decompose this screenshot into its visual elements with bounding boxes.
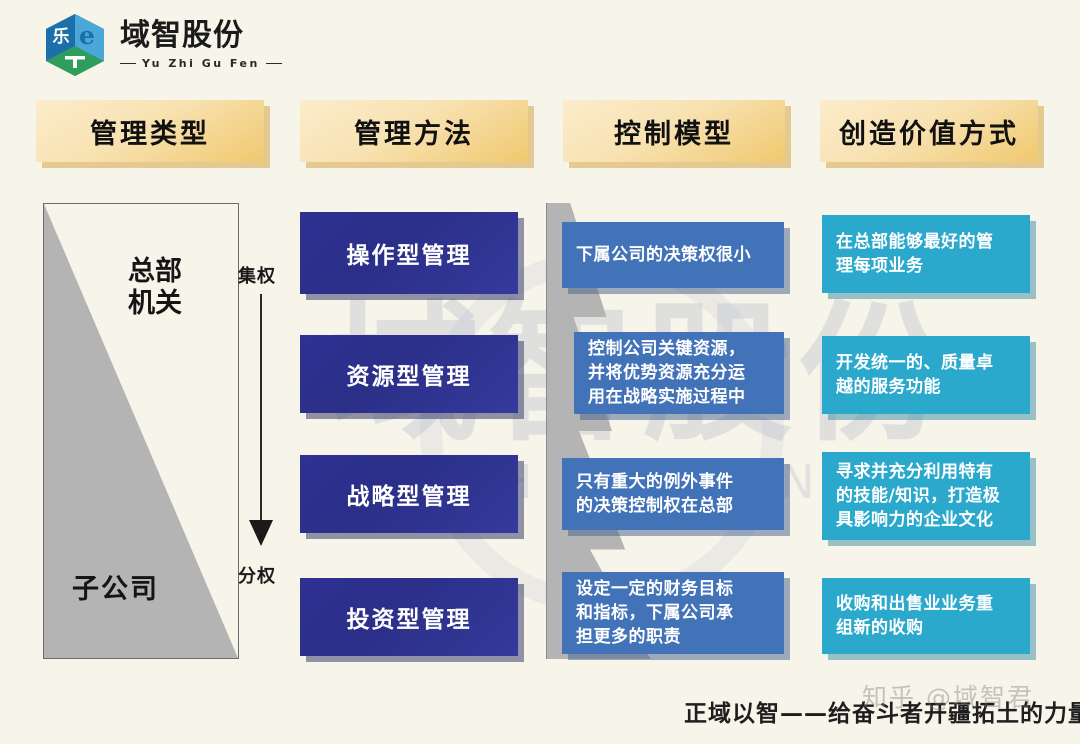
label-headquarters: 总部 机关 (128, 256, 182, 320)
control-card-3[interactable]: 只有重大的例外事件 的决策控制权在总部 (562, 458, 784, 530)
brand-name: 域智股份 (120, 21, 282, 51)
value-card-4-text: 收购和出售业业务重 组新的收购 (836, 592, 994, 640)
control-card-1[interactable]: 下属公司的决策权很小 (562, 222, 784, 288)
down-arrow-icon (249, 520, 273, 546)
headquarters-subsidiary-diagram: 总部 机关 子公司 (43, 203, 239, 659)
column-header-value-creation: 创造价值方式 (820, 100, 1038, 162)
label-centralization: 集权 (238, 262, 276, 288)
value-card-1-text: 在总部能够最好的管 理每项业务 (836, 230, 994, 278)
brand-header: 乐 e 域智股份 Yu Zhi Gu Fen (42, 12, 282, 78)
value-card-2[interactable]: 开发统一的、质量卓 越的服务功能 (822, 336, 1030, 414)
method-card-2[interactable]: 资源型管理 (300, 335, 518, 413)
value-card-3-text: 寻求并充分利用特有 的技能/知识，打造极 具影响力的企业文化 (836, 460, 1000, 532)
label-subsidiary: 子公司 (72, 574, 159, 606)
brand-text-block: 域智股份 Yu Zhi Gu Fen (120, 21, 282, 69)
value-card-4[interactable]: 收购和出售业业务重 组新的收购 (822, 578, 1030, 654)
control-card-3-text: 只有重大的例外事件 的决策控制权在总部 (576, 470, 734, 518)
control-card-4-text: 设定一定的财务目标 和指标，下属公司承 担更多的职责 (576, 577, 734, 649)
value-card-2-text: 开发统一的、质量卓 越的服务功能 (836, 351, 994, 399)
control-card-1-text: 下属公司的决策权很小 (576, 243, 751, 267)
value-card-1[interactable]: 在总部能够最好的管 理每项业务 (822, 215, 1030, 293)
value-card-3[interactable]: 寻求并充分利用特有 的技能/知识，打造极 具影响力的企业文化 (822, 452, 1030, 540)
svg-text:乐: 乐 (53, 27, 70, 47)
column-header-management-method: 管理方法 (300, 100, 528, 162)
slide-canvas: 域智股份 YU ZHI GU FEN 乐 e 域智股份 Yu Zhi Gu Fe… (0, 0, 1080, 744)
column-header-control-model: 控制模型 (563, 100, 785, 162)
brand-pinyin: Yu Zhi Gu Fen (120, 58, 282, 69)
centralization-axis: 集权 分权 (238, 262, 294, 592)
method-card-1[interactable]: 操作型管理 (300, 212, 518, 294)
label-decentralization: 分权 (238, 562, 276, 588)
axis-line (260, 294, 262, 539)
zhihu-watermark: 知乎 @域智君 (862, 678, 1034, 714)
control-card-2[interactable]: 控制公司关键资源， 并将优势资源充分运 用在战略实施过程中 (574, 332, 784, 414)
company-logo-icon: 乐 e (42, 12, 108, 78)
control-card-4[interactable]: 设定一定的财务目标 和指标，下属公司承 担更多的职责 (562, 572, 784, 654)
method-card-3[interactable]: 战略型管理 (300, 455, 518, 533)
method-card-4[interactable]: 投资型管理 (300, 578, 518, 656)
control-card-2-text: 控制公司关键资源， 并将优势资源充分运 用在战略实施过程中 (588, 337, 746, 409)
column-header-management-type: 管理类型 (36, 100, 264, 162)
svg-text:e: e (79, 21, 95, 50)
